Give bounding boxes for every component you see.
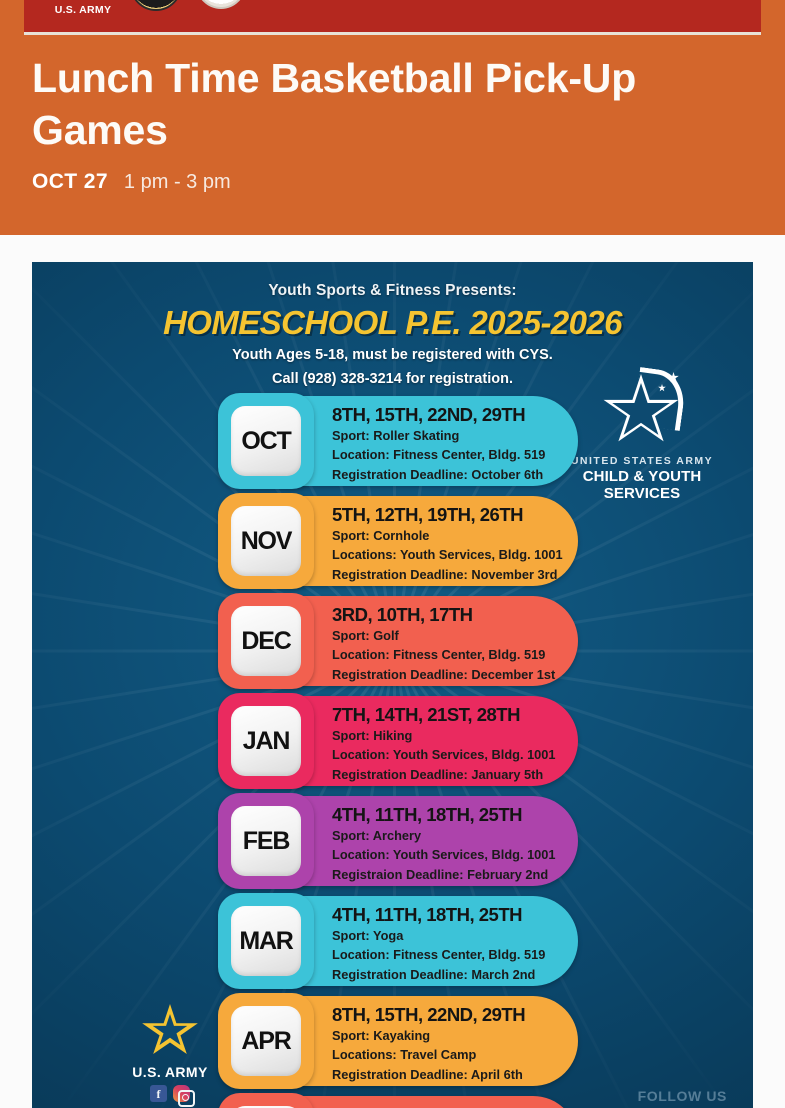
flyer-title: HOMESCHOOL P.E. 2025-2026 bbox=[32, 304, 753, 342]
row-deadline: Registraion Deadline: February 2nd bbox=[332, 865, 572, 884]
month-chip: DEC bbox=[218, 593, 314, 689]
schedule-row: NOV5TH, 12TH, 19TH, 26THSport: CornholeL… bbox=[218, 493, 578, 592]
row-sport: Sport: Hiking bbox=[332, 726, 572, 745]
month-abbr: OCT bbox=[241, 427, 290, 456]
row-deadline: Registration Deadline: March 2nd bbox=[332, 965, 572, 984]
facebook-icon: f bbox=[150, 1085, 167, 1102]
month-chip: OCT bbox=[218, 393, 314, 489]
row-location: Location: Fitness Center, Bldg. 519 bbox=[332, 645, 572, 664]
row-location: Location: Fitness Center, Bldg. 519 bbox=[332, 945, 572, 964]
month-chip: FEB bbox=[218, 793, 314, 889]
cys-star-icon bbox=[602, 374, 682, 448]
row-location: Location: Youth Services, Bldg. 1001 bbox=[332, 845, 572, 864]
row-dates: 3RD, 10TH, 17TH bbox=[332, 605, 572, 626]
army-logo: U.S. ARMY bbox=[50, 0, 116, 30]
schedule-row: DEC3RD, 10TH, 17THSport: GolfLocation: F… bbox=[218, 593, 578, 692]
schedule-list: OCT8TH, 15TH, 22ND, 29THSport: Roller Sk… bbox=[218, 393, 578, 1108]
schedule-row: MAY6TH, 13TH, 20TH, 27TH bbox=[218, 1093, 578, 1108]
mwr-seal-icon bbox=[130, 0, 182, 11]
month-chip: MAR bbox=[218, 893, 314, 989]
flyer-presents-line: Youth Sports & Fitness Presents: bbox=[32, 282, 753, 300]
instagram-icon bbox=[173, 1085, 190, 1102]
schedule-row: OCT8TH, 15TH, 22ND, 29THSport: Roller Sk… bbox=[218, 393, 578, 492]
row-dates: 8TH, 15TH, 22ND, 29TH bbox=[332, 1005, 572, 1026]
flyer-army-label: U.S. ARMY bbox=[108, 1064, 232, 1080]
row-location: Locations: Youth Services, Bldg. 1001 bbox=[332, 545, 572, 564]
row-dates: 7TH, 14TH, 21ST, 28TH bbox=[332, 705, 572, 726]
event-hero: U.S. ARMY f @YumaMWR @Yuma.MWR Lunch Tim… bbox=[0, 0, 785, 235]
month-chip: JAN bbox=[218, 693, 314, 789]
row-sport: Sport: Kayaking bbox=[332, 1026, 572, 1045]
month-abbr: NOV bbox=[241, 527, 292, 556]
month-abbr: FEB bbox=[243, 827, 289, 856]
row-dates: 8TH, 15TH, 22ND, 29TH bbox=[332, 405, 572, 426]
month-abbr: APR bbox=[241, 1027, 290, 1056]
row-deadline: Registration Deadline: October 6th bbox=[332, 465, 572, 484]
event-page: U.S. ARMY f @YumaMWR @Yuma.MWR Lunch Tim… bbox=[0, 0, 785, 1108]
installation-seal-icon bbox=[196, 0, 246, 9]
mwr-banner: U.S. ARMY f @YumaMWR @Yuma.MWR bbox=[24, 0, 761, 35]
month-chip: NOV bbox=[218, 493, 314, 589]
row-deadline: Registration Deadline: April 6th bbox=[332, 1065, 572, 1084]
page-title: Lunch Time Basketball Pick-Up Games bbox=[32, 52, 692, 157]
row-dates: 5TH, 12TH, 19TH, 26TH bbox=[332, 505, 572, 526]
row-sport: Sport: Golf bbox=[332, 626, 572, 645]
row-sport: Sport: Cornhole bbox=[332, 526, 572, 545]
month-abbr: JAN bbox=[243, 727, 289, 756]
event-meta: OCT 27 1 pm - 3 pm bbox=[32, 170, 231, 194]
month-abbr: DEC bbox=[241, 627, 290, 656]
flyer-subtitle-1: Youth Ages 5-18, must be registered with… bbox=[32, 345, 753, 366]
schedule-row: JAN7TH, 14TH, 21ST, 28THSport: HikingLoc… bbox=[218, 693, 578, 792]
row-location: Locations: Travel Camp bbox=[332, 1045, 572, 1064]
month-abbr: MAR bbox=[239, 927, 292, 956]
month-chip: APR bbox=[218, 993, 314, 1089]
event-date: OCT 27 bbox=[32, 170, 108, 194]
army-star-icon bbox=[141, 1004, 199, 1059]
row-deadline: Registration Deadline: January 5th bbox=[332, 765, 572, 784]
schedule-row: MAR4TH, 11TH, 18TH, 25THSport: YogaLocat… bbox=[218, 893, 578, 992]
row-dates: 4TH, 11TH, 18TH, 25TH bbox=[332, 905, 572, 926]
event-time: 1 pm - 3 pm bbox=[124, 171, 231, 194]
row-deadline: Registration Deadline: December 1st bbox=[332, 665, 572, 684]
schedule-row: APR8TH, 15TH, 22ND, 29THSport: KayakingL… bbox=[218, 993, 578, 1092]
row-sport: Sport: Roller Skating bbox=[332, 426, 572, 445]
row-dates: 4TH, 11TH, 18TH, 25TH bbox=[332, 805, 572, 826]
flyer-army-logo: U.S. ARMY f bbox=[108, 1004, 232, 1102]
event-flyer-image[interactable]: Youth Sports & Fitness Presents: HOMESCH… bbox=[32, 262, 753, 1108]
month-chip: MAY bbox=[218, 1093, 314, 1108]
row-location: Location: Fitness Center, Bldg. 519 bbox=[332, 445, 572, 464]
flyer-follow-text: FOLLOW US bbox=[638, 1088, 727, 1104]
row-sport: Sport: Yoga bbox=[332, 926, 572, 945]
schedule-row: FEB4TH, 11TH, 18TH, 25THSport: ArcheryLo… bbox=[218, 793, 578, 892]
army-logo-label: U.S. ARMY bbox=[50, 4, 116, 16]
row-location: Location: Youth Services, Bldg. 1001 bbox=[332, 745, 572, 764]
row-sport: Sport: Archery bbox=[332, 826, 572, 845]
row-deadline: Registration Deadline: November 3rd bbox=[332, 565, 572, 584]
